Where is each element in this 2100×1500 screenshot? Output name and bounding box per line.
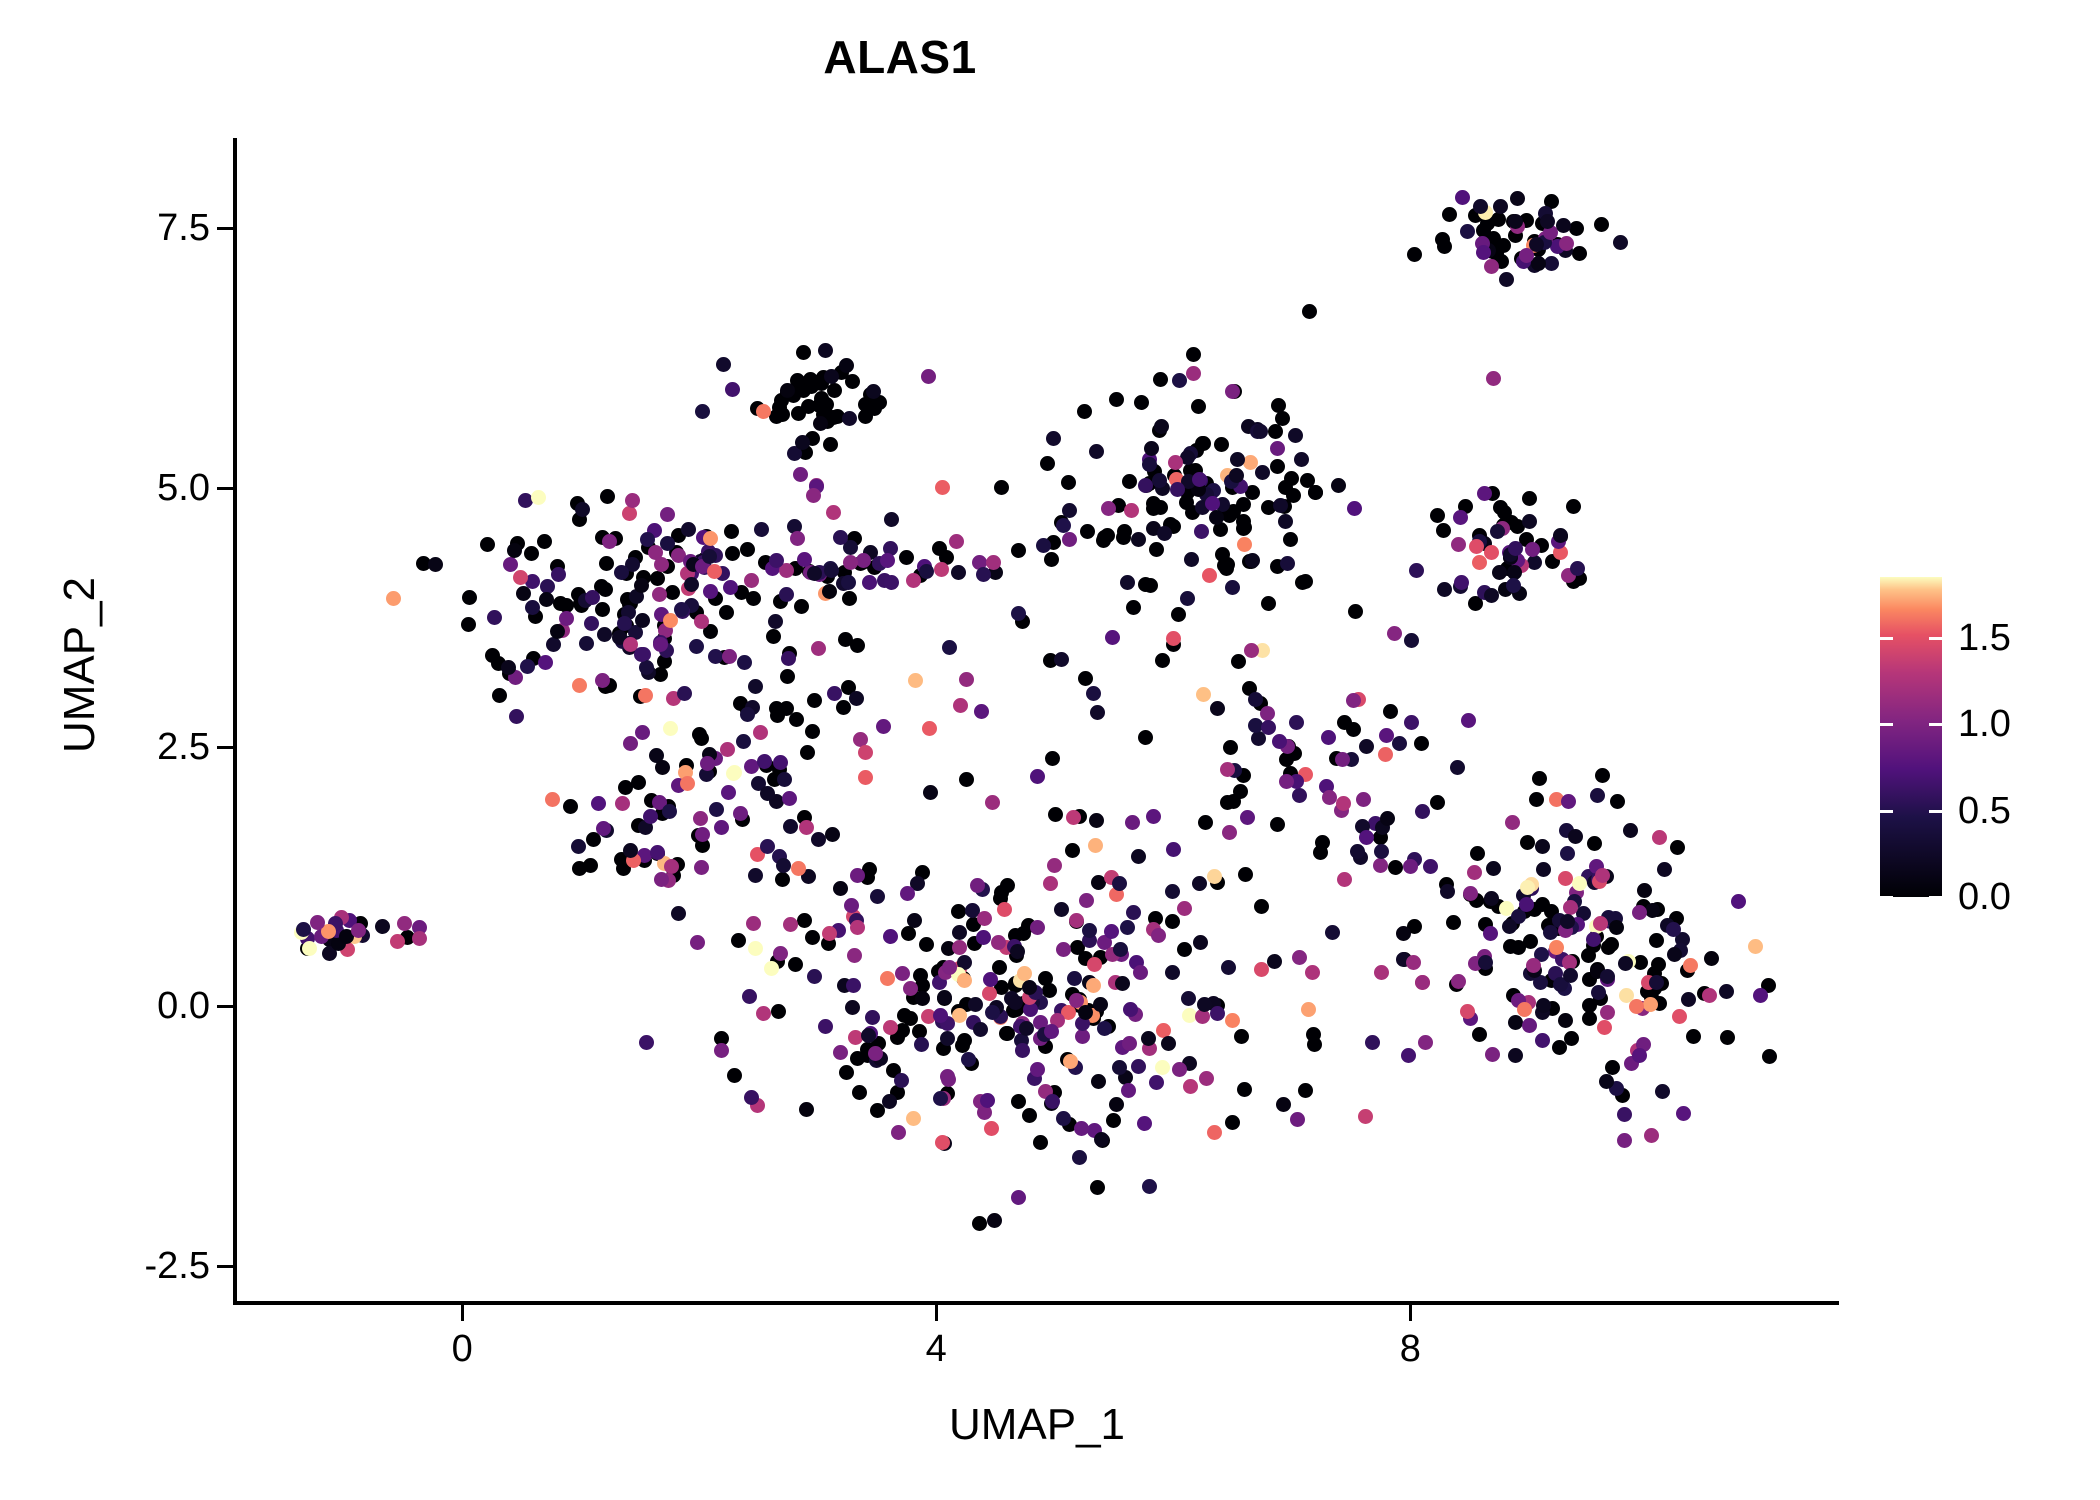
scatter-point — [1609, 920, 1624, 935]
scatter-point — [302, 941, 317, 956]
color-legend[interactable]: 0.00.51.01.5 — [1880, 560, 2090, 920]
scatter-point — [1222, 825, 1237, 840]
scatter-point — [862, 575, 877, 590]
scatter-point — [799, 1102, 814, 1117]
scatter-point — [1288, 428, 1303, 443]
y-axis-tick-label: -2.5 — [60, 1247, 210, 1285]
scatter-point — [390, 934, 405, 949]
scatter-point — [1062, 503, 1077, 518]
scatter-point — [1383, 704, 1398, 719]
scatter-point — [1225, 1115, 1240, 1130]
y-axis-tick — [217, 746, 233, 749]
scatter-point — [1373, 858, 1388, 873]
scatter-point — [933, 1008, 948, 1023]
scatter-point — [428, 557, 443, 572]
scatter-point — [807, 693, 822, 708]
scatter-point — [1566, 499, 1581, 514]
scatter-point — [1133, 965, 1148, 980]
scatter-point — [1220, 795, 1235, 810]
scatter-point — [1423, 859, 1438, 874]
scatter-point — [1149, 1075, 1164, 1090]
scatter-point — [680, 776, 695, 791]
scatter-point — [731, 933, 746, 948]
scatter-point — [1446, 915, 1461, 930]
scatter-point — [919, 564, 934, 579]
scatter-point — [1077, 404, 1092, 419]
scatter-point — [650, 845, 665, 860]
scatter-point — [1030, 920, 1045, 935]
scatter-point — [1280, 556, 1295, 571]
colorbar-tick-label: 0.0 — [1958, 878, 2088, 916]
scatter-point — [1535, 1033, 1550, 1048]
scatter-point — [1582, 998, 1597, 1013]
scatter-point — [1065, 843, 1080, 858]
scatter-point — [551, 567, 566, 582]
scatter-point — [539, 592, 554, 607]
scatter-point — [1075, 1029, 1090, 1044]
scatter-point — [375, 919, 390, 934]
y-axis-tick — [217, 227, 233, 230]
scatter-point — [764, 961, 779, 976]
scatter-point — [736, 734, 751, 749]
scatter-point — [1632, 1048, 1647, 1063]
scatter-point — [1202, 568, 1217, 583]
scatter-point — [790, 531, 805, 546]
scatter-point — [783, 819, 798, 834]
scatter-point — [1560, 914, 1575, 929]
scatter-point — [1278, 514, 1293, 529]
colorbar[interactable] — [1880, 577, 1942, 897]
scatter-point — [1244, 643, 1259, 658]
scatter-point — [1519, 248, 1534, 263]
scatter-point — [1451, 537, 1466, 552]
scatter-point — [1106, 1113, 1121, 1128]
scatter-point — [1469, 539, 1484, 554]
scatter-point — [1520, 880, 1535, 895]
scatter-point — [1460, 1004, 1475, 1019]
scatter-point — [1086, 686, 1101, 701]
scatter-point — [1079, 893, 1094, 908]
scatter-point — [1506, 578, 1521, 593]
scatter-point — [991, 935, 1006, 950]
scatter-point — [654, 872, 669, 887]
scatter-point — [1591, 985, 1606, 1000]
scatter-point — [1301, 1002, 1316, 1017]
scatter-point — [1307, 1037, 1322, 1052]
scatter-point — [797, 913, 812, 928]
scatter-point — [714, 820, 729, 835]
scatter-point — [1080, 524, 1095, 539]
scatter-point — [553, 596, 568, 611]
scatter-point — [1124, 503, 1139, 518]
scatter-point — [932, 541, 947, 556]
colorbar-tick — [1880, 810, 1893, 813]
scatter-point — [681, 522, 696, 537]
scatter-point — [1225, 1013, 1240, 1028]
scatter-point — [1387, 626, 1402, 641]
scatter-point — [1657, 862, 1672, 877]
scatter-point — [537, 534, 552, 549]
scatter-point — [650, 571, 665, 586]
scatter-point — [748, 941, 763, 956]
scatter-point — [1502, 919, 1517, 934]
scatter-point — [982, 986, 997, 1001]
scatter-point — [1670, 840, 1685, 855]
scatter-point — [748, 868, 763, 883]
scatter-point — [635, 725, 650, 740]
scatter-point — [1126, 905, 1141, 920]
scatter-point — [901, 926, 916, 941]
scatter-point — [1511, 940, 1526, 955]
scatter-point — [951, 565, 966, 580]
scatter-point — [1113, 942, 1128, 957]
scatter-point — [1261, 720, 1276, 735]
scatter-point — [791, 861, 806, 876]
scatter-point — [1637, 883, 1652, 898]
scatter-point — [1131, 532, 1146, 547]
scatter-point — [1067, 971, 1082, 986]
scatter-point — [957, 1033, 972, 1048]
scatter-point — [1544, 256, 1559, 271]
scatter-plot-panel[interactable] — [237, 140, 1837, 1302]
scatter-point — [1205, 496, 1220, 511]
scatter-point — [957, 973, 972, 988]
scatter-point — [625, 493, 640, 508]
scatter-point — [740, 707, 755, 722]
scatter-point — [769, 409, 784, 424]
scatter-point — [777, 772, 792, 787]
scatter-point — [952, 940, 967, 955]
scatter-point — [702, 549, 717, 564]
scatter-point — [756, 404, 771, 419]
scatter-point — [585, 590, 600, 605]
scatter-point — [1490, 524, 1505, 539]
scatter-point — [1569, 221, 1584, 236]
scatter-point — [1308, 485, 1323, 500]
scatter-point — [1056, 518, 1071, 533]
scatter-point — [694, 860, 709, 875]
scatter-point — [1109, 1097, 1124, 1112]
scatter-point — [1048, 807, 1063, 822]
scatter-point — [921, 369, 936, 384]
scatter-point — [674, 602, 689, 617]
scatter-point — [1194, 524, 1209, 539]
scatter-point — [899, 550, 914, 565]
scatter-point — [983, 972, 998, 987]
scatter-point — [997, 902, 1012, 917]
scatter-point — [1141, 1031, 1156, 1046]
scatter-point — [844, 898, 859, 913]
scatter-point — [703, 531, 718, 546]
scatter-point — [1153, 372, 1168, 387]
scatter-point — [727, 765, 742, 780]
scatter-point — [1225, 580, 1240, 595]
scatter-point — [1131, 849, 1146, 864]
scatter-point — [1597, 1020, 1612, 1035]
scatter-point — [660, 507, 675, 522]
scatter-point — [1365, 1035, 1380, 1050]
scatter-point — [695, 404, 710, 419]
scatter-point — [1649, 933, 1664, 948]
scatter-point — [1054, 902, 1069, 917]
scatter-point — [1461, 713, 1476, 728]
scatter-point — [806, 488, 821, 503]
scatter-point — [1087, 957, 1102, 972]
scatter-point — [1166, 842, 1181, 857]
scatter-point — [694, 731, 709, 746]
scatter-point — [1283, 532, 1298, 547]
scatter-point — [1582, 1011, 1597, 1026]
scatter-point — [1414, 736, 1429, 751]
scatter-point — [900, 886, 915, 901]
scatter-point — [1442, 207, 1457, 222]
scatter-point — [842, 591, 857, 606]
scatter-point — [1292, 950, 1307, 965]
scatter-point — [737, 655, 752, 670]
scatter-point — [1532, 771, 1547, 786]
scatter-point — [1101, 501, 1116, 516]
scatter-point — [1460, 224, 1475, 239]
scatter-point — [1347, 501, 1362, 516]
scatter-point — [1570, 561, 1585, 576]
scatter-point — [1054, 652, 1069, 667]
scatter-point — [462, 590, 477, 605]
data-points-layer — [237, 140, 1837, 1302]
scatter-point — [841, 575, 856, 590]
scatter-point — [1082, 923, 1097, 938]
scatter-point — [1177, 901, 1192, 916]
scatter-point — [1091, 1074, 1106, 1089]
scatter-point — [722, 649, 737, 664]
scatter-point — [1605, 1060, 1620, 1075]
scatter-point — [1436, 523, 1451, 538]
scatter-point — [756, 1006, 771, 1021]
scatter-point — [1604, 937, 1619, 952]
scatter-point — [1594, 217, 1609, 232]
scatter-point — [1453, 510, 1468, 525]
scatter-point — [1348, 604, 1363, 619]
scatter-point — [652, 587, 667, 602]
scatter-point — [1651, 957, 1666, 972]
scatter-point — [1210, 1006, 1225, 1021]
scatter-point — [1536, 862, 1551, 877]
scatter-point — [310, 915, 325, 930]
scatter-point — [1704, 951, 1719, 966]
scatter-point — [807, 969, 822, 984]
scatter-point — [1508, 1015, 1523, 1030]
scatter-point — [1719, 984, 1734, 999]
scatter-point — [937, 990, 952, 1005]
scatter-point — [1553, 528, 1568, 543]
scatter-point — [865, 1010, 880, 1025]
scatter-point — [507, 543, 522, 558]
x-axis-tick — [1409, 1305, 1412, 1321]
scatter-point — [1686, 1029, 1701, 1044]
scatter-point — [797, 552, 812, 567]
scatter-point — [1237, 1082, 1252, 1097]
scatter-point — [639, 660, 654, 675]
scatter-point — [1093, 997, 1108, 1012]
scatter-point — [1063, 1054, 1078, 1069]
scatter-point — [838, 632, 853, 647]
scatter-point — [849, 691, 864, 706]
scatter-point — [1097, 1021, 1112, 1036]
scatter-point — [1527, 555, 1542, 570]
scatter-point — [1120, 920, 1135, 935]
scatter-point — [1681, 992, 1696, 1007]
scatter-point — [1321, 730, 1336, 745]
scatter-point — [1484, 588, 1499, 603]
scatter-point — [1430, 508, 1445, 523]
scatter-point — [780, 669, 795, 684]
x-axis-tick-label: 4 — [876, 1330, 996, 1368]
scatter-point — [788, 957, 803, 972]
scatter-point — [1121, 1083, 1136, 1098]
scatter-point — [1045, 1094, 1060, 1109]
scatter-point — [1165, 914, 1180, 929]
scatter-point — [1267, 954, 1282, 969]
scatter-point — [725, 382, 740, 397]
scatter-point — [516, 586, 531, 601]
y-axis-tick-label: 7.5 — [60, 209, 210, 247]
scatter-point — [1122, 474, 1137, 489]
scatter-point — [1260, 706, 1275, 721]
scatter-point — [876, 719, 891, 734]
scatter-point — [811, 641, 826, 656]
scatter-point — [1379, 728, 1394, 743]
scatter-point — [1617, 1107, 1632, 1122]
scatter-point — [1667, 947, 1682, 962]
scatter-point — [1477, 486, 1492, 501]
scatter-point — [1276, 1097, 1291, 1112]
scatter-point — [1486, 861, 1501, 876]
scatter-point — [1404, 633, 1419, 648]
scatter-point — [1104, 924, 1119, 939]
scatter-point — [1392, 736, 1407, 751]
scatter-point — [801, 399, 816, 414]
scatter-point — [1378, 747, 1393, 762]
scatter-point — [1074, 1121, 1089, 1136]
scatter-point — [1748, 939, 1763, 954]
scatter-point — [1322, 790, 1337, 805]
scatter-point — [1044, 1024, 1059, 1039]
scatter-point — [1210, 701, 1225, 716]
scatter-point — [805, 930, 820, 945]
scatter-point — [1109, 392, 1124, 407]
scatter-point — [1088, 838, 1103, 853]
scatter-point — [655, 760, 670, 775]
scatter-point — [1254, 899, 1269, 914]
scatter-point — [1483, 926, 1498, 941]
scatter-point — [1617, 1133, 1632, 1148]
scatter-point — [509, 709, 524, 724]
scatter-point — [614, 565, 629, 580]
scatter-point — [664, 859, 679, 874]
scatter-point — [744, 573, 759, 588]
scatter-point — [934, 562, 949, 577]
scatter-point — [922, 721, 937, 736]
colorbar-tick-label: 1.5 — [1958, 619, 2088, 657]
scatter-point — [1215, 547, 1230, 562]
scatter-point — [1096, 533, 1111, 548]
scatter-point — [1008, 995, 1023, 1010]
scatter-point — [1072, 1150, 1087, 1165]
scatter-point — [1520, 835, 1535, 850]
scatter-point — [794, 599, 809, 614]
scatter-point — [623, 637, 638, 652]
scatter-point — [933, 1091, 948, 1106]
scatter-point — [559, 611, 574, 626]
scatter-point — [1268, 424, 1283, 439]
scatter-point — [824, 563, 839, 578]
x-axis-tick — [935, 1305, 938, 1321]
scatter-point — [1030, 769, 1045, 784]
scatter-point — [773, 946, 788, 961]
scatter-point — [615, 796, 630, 811]
scatter-point — [1089, 444, 1104, 459]
scatter-point — [1047, 858, 1062, 873]
scatter-point — [1676, 1106, 1691, 1121]
scatter-point — [579, 636, 594, 651]
scatter-point — [1568, 829, 1583, 844]
scatter-point — [1155, 653, 1170, 668]
scatter-point — [660, 536, 675, 551]
scatter-point — [1157, 526, 1172, 541]
scatter-point — [1134, 395, 1149, 410]
scatter-point — [1558, 871, 1573, 886]
scatter-point — [1196, 687, 1211, 702]
scatter-point — [1418, 1035, 1433, 1050]
scatter-point — [1011, 543, 1026, 558]
scatter-point — [1581, 948, 1596, 963]
scatter-point — [631, 775, 646, 790]
scatter-point — [1519, 897, 1534, 912]
scatter-point — [725, 546, 740, 561]
scatter-point — [1359, 830, 1374, 845]
scatter-point — [827, 383, 842, 398]
scatter-point — [623, 736, 638, 751]
scatter-point — [1186, 347, 1201, 362]
scatter-point — [1011, 1094, 1026, 1109]
scatter-point — [600, 489, 615, 504]
scatter-point — [861, 1028, 876, 1043]
scatter-point — [1154, 419, 1169, 434]
scatter-point — [1655, 1084, 1670, 1099]
scatter-point — [1430, 795, 1445, 810]
colorbar-tick-label: 0.5 — [1958, 792, 2088, 830]
scatter-point — [1401, 1048, 1416, 1063]
scatter-point — [1030, 1062, 1045, 1077]
scatter-point — [1142, 1179, 1157, 1194]
x-axis-title: UMAP_1 — [237, 1400, 1837, 1450]
scatter-point — [793, 467, 808, 482]
scatter-point — [1233, 784, 1248, 799]
scatter-point — [842, 411, 857, 426]
colorbar-tick — [1929, 723, 1942, 726]
scatter-point — [1380, 811, 1395, 826]
scatter-point — [757, 754, 772, 769]
scatter-point — [799, 820, 814, 835]
scatter-point — [1193, 935, 1208, 950]
scatter-point — [974, 704, 989, 719]
scatter-point — [386, 591, 401, 606]
scatter-point — [638, 688, 653, 703]
scatter-point — [689, 639, 704, 654]
scatter-point — [531, 490, 546, 505]
scatter-point — [1036, 538, 1051, 553]
scatter-point — [1672, 1009, 1687, 1024]
x-axis-tick-label: 8 — [1350, 1330, 1470, 1368]
